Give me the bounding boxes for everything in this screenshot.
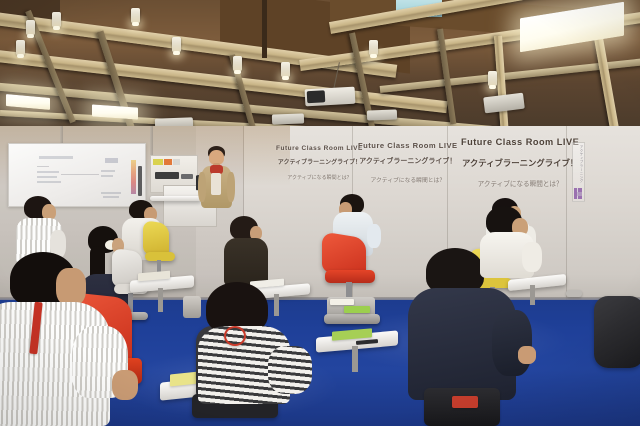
track-light-icon bbox=[233, 56, 242, 71]
chair-base bbox=[324, 314, 380, 324]
attendee-jacket bbox=[224, 238, 268, 286]
projection-right-subhead: アクティブラーニングライブ！ bbox=[461, 157, 579, 170]
wall-mount-bracket bbox=[138, 166, 142, 196]
projection-left-subhead: アクティブラーニングライブ！ bbox=[276, 159, 363, 168]
ceiling-projector-far bbox=[483, 93, 525, 114]
bag-accent bbox=[452, 396, 478, 408]
floor-equipment bbox=[566, 290, 582, 297]
stored-notebook bbox=[330, 299, 354, 305]
track-light-icon bbox=[281, 62, 290, 77]
ceiling-projector-main bbox=[305, 87, 356, 107]
track-light-icon bbox=[488, 71, 497, 86]
projection-right: Future Class Room LIVE アクティブラーニングライブ！ アク… bbox=[461, 136, 579, 190]
presenter-arm-right bbox=[227, 172, 235, 202]
track-light-icon bbox=[172, 37, 181, 52]
chair-back bbox=[594, 296, 640, 368]
projection-left: Future Class Room LIVE アクティブラーニングライブ！ アク… bbox=[276, 144, 363, 182]
projection-center-subhead: アクティブラーニングライブ！ bbox=[358, 157, 458, 168]
projection-right-caption: アクティブになる瞬間とは？ bbox=[461, 180, 579, 190]
attendee-arm bbox=[268, 346, 312, 394]
wall-outlet-icon bbox=[577, 192, 582, 196]
track-light-icon bbox=[16, 40, 25, 55]
ceiling bbox=[0, 0, 640, 132]
projection-right-headline: Future Class Room LIVE bbox=[461, 136, 579, 150]
presenter-arm-left bbox=[198, 172, 206, 202]
projector-lens-icon bbox=[307, 90, 326, 103]
color-strip bbox=[131, 160, 136, 194]
front-table bbox=[150, 196, 202, 201]
track-light-icon bbox=[26, 20, 35, 35]
desk-support bbox=[274, 294, 279, 316]
projection-center: Future Class Room LIVE アクティブラーニングライブ！ アク… bbox=[358, 140, 458, 186]
panel-light bbox=[6, 94, 50, 110]
projection-center-headline: Future Class Room LIVE bbox=[358, 140, 458, 151]
waste-bin bbox=[183, 296, 201, 318]
projection-center-caption: アクティブになる瞬間とは？ bbox=[358, 177, 458, 186]
attendee-hand bbox=[112, 370, 138, 400]
wall-support-post bbox=[150, 126, 153, 156]
desk-support bbox=[158, 288, 163, 312]
attendee-hand bbox=[518, 346, 536, 364]
necklace bbox=[224, 326, 246, 346]
stored-folder bbox=[344, 306, 370, 313]
vertical-banner-text: アクティブラーニング bbox=[574, 145, 583, 185]
projection-left-caption: アクティブになる瞬間とは？ bbox=[276, 175, 363, 183]
ceiling-projector-mid bbox=[272, 113, 304, 124]
attendee-arm bbox=[367, 224, 381, 248]
attendee-head bbox=[56, 268, 86, 306]
attendee-arm bbox=[522, 242, 542, 272]
desk-support bbox=[352, 346, 358, 372]
classroom-photo: Future Class Room LIVE アクティブラーニングライブ！ アク… bbox=[0, 0, 640, 426]
track-light-icon bbox=[369, 40, 378, 55]
track-light-icon bbox=[131, 8, 140, 23]
ceiling-projector-right bbox=[367, 109, 397, 120]
attendee-arm bbox=[492, 310, 532, 376]
track-light-icon bbox=[52, 12, 61, 27]
presenter-shirt bbox=[211, 173, 221, 195]
projection-left-headline: Future Class Room LIVE bbox=[276, 144, 363, 154]
desk-support bbox=[530, 285, 535, 305]
